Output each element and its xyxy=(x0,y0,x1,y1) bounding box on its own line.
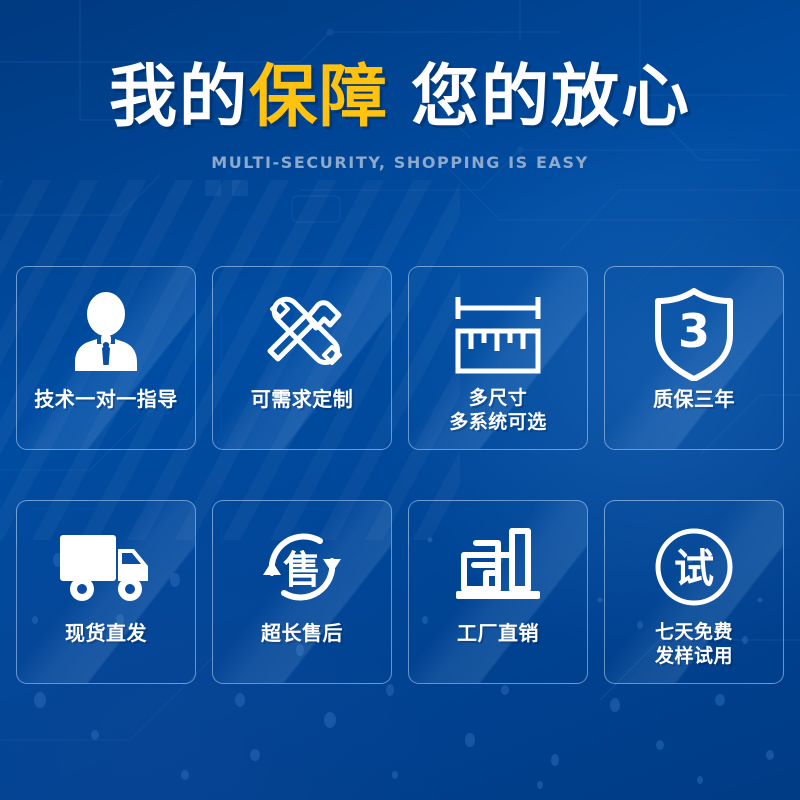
feature-label-line-1: 七天免费 xyxy=(655,621,733,643)
title-highlight: 保障 xyxy=(249,58,389,137)
feature-label-line-1: 质保三年 xyxy=(653,387,735,411)
feature-card-grid: 技术一对一指导 xyxy=(16,266,784,684)
feature-card-label: 多尺寸 多系统可选 xyxy=(445,387,551,434)
feature-card-factory-direct[interactable]: 工厂直销 xyxy=(408,500,588,684)
feature-label-line-1: 超长售后 xyxy=(261,621,343,645)
feature-card-sizes-systems[interactable]: 多尺寸 多系统可选 xyxy=(408,266,588,450)
page-title: 我的保障您的放心 xyxy=(0,0,800,133)
feature-card-technical-guidance[interactable]: 技术一对一指导 xyxy=(16,266,196,450)
feature-card-customization[interactable]: 可需求定制 xyxy=(212,266,392,450)
svg-text:售: 售 xyxy=(283,548,321,592)
feature-label-line-2: 发样试用 xyxy=(655,645,733,669)
feature-label-line-1: 多尺寸 xyxy=(469,387,528,409)
banner-header: 我的保障您的放心 MULTI-SECURITY, SHOPPING IS EAS… xyxy=(0,0,800,172)
trial-circle-icon: 试 xyxy=(605,513,783,621)
feature-card-label: 可需求定制 xyxy=(247,387,358,412)
ruler-measure-icon xyxy=(409,279,587,387)
feature-label-line-1: 现货直发 xyxy=(65,621,147,645)
feature-card-label: 七天免费 发样试用 xyxy=(651,621,737,668)
feature-card-label: 质保三年 xyxy=(649,387,739,412)
promo-banner: 我的保障您的放心 MULTI-SECURITY, SHOPPING IS EAS… xyxy=(0,0,800,800)
feature-card-free-trial[interactable]: 试 七天免费 发样试用 xyxy=(604,500,784,684)
feature-card-label: 技术一对一指导 xyxy=(30,387,182,412)
svg-text:3: 3 xyxy=(678,304,710,358)
feature-card-label: 现货直发 xyxy=(61,621,151,646)
svg-text:试: 试 xyxy=(674,546,714,592)
feature-card-warranty[interactable]: 3 质保三年 xyxy=(604,266,784,450)
title-part-one: 我的 xyxy=(109,58,249,137)
feature-label-line-1: 工厂直销 xyxy=(457,621,539,645)
factory-icon xyxy=(409,513,587,621)
feature-card-label: 超长售后 xyxy=(257,621,347,646)
delivery-truck-icon xyxy=(17,513,195,621)
wrench-hammer-icon xyxy=(213,279,391,387)
feature-card-after-sales[interactable]: 售 超长售后 xyxy=(212,500,392,684)
feature-label-line-1: 可需求定制 xyxy=(251,387,354,411)
feature-card-label: 工厂直销 xyxy=(453,621,543,646)
person-avatar-icon xyxy=(17,279,195,387)
feature-label-line-1: 技术一对一指导 xyxy=(34,387,178,411)
shield-three-icon: 3 xyxy=(605,279,783,387)
page-subtitle: MULTI-SECURITY, SHOPPING IS EASY xyxy=(0,133,800,172)
feature-card-in-stock-shipping[interactable]: 现货直发 xyxy=(16,500,196,684)
after-sales-cycle-icon: 售 xyxy=(213,513,391,621)
feature-label-line-2: 多系统可选 xyxy=(449,411,547,435)
title-part-two: 您的放心 xyxy=(411,58,691,137)
